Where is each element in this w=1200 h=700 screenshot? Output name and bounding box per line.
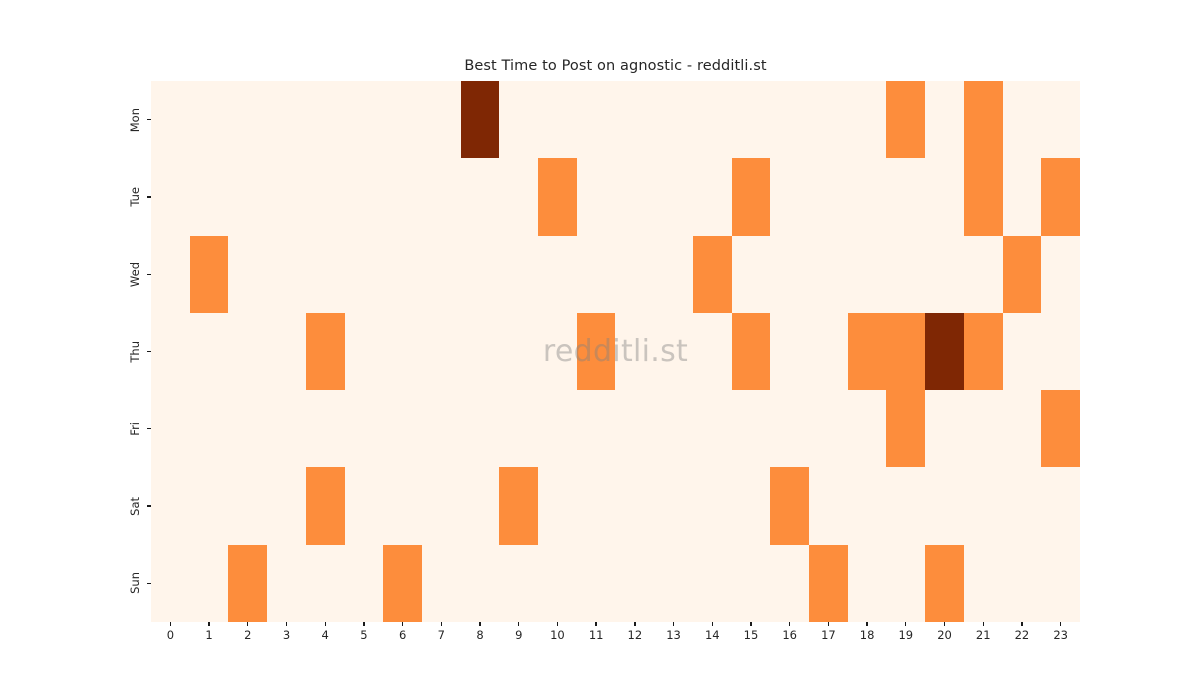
heatmap-cell — [886, 81, 925, 158]
x-tick-mark — [866, 622, 867, 626]
figure-canvas: Best Time to Post on agnostic - redditli… — [0, 0, 1200, 700]
x-tick-12: 12 — [616, 622, 655, 642]
heatmap-cell — [654, 390, 693, 467]
heatmap-cell — [345, 545, 384, 622]
y-tick-label: Mon — [130, 108, 142, 132]
x-tick-16: 16 — [770, 622, 809, 642]
x-tick-mark — [634, 622, 635, 626]
heatmap-cell — [422, 467, 461, 544]
heatmap-cell — [151, 158, 190, 235]
heatmap-cell — [228, 390, 267, 467]
heatmap-cell — [925, 390, 964, 467]
heatmap-cell — [1003, 158, 1042, 235]
heatmap-cell — [693, 313, 732, 390]
heatmap-cell — [615, 158, 654, 235]
x-tick-label: 2 — [244, 630, 251, 642]
x-tick-mark — [363, 622, 364, 626]
x-tick-mark — [479, 622, 480, 626]
heatmap-cell — [151, 545, 190, 622]
heatmap-cell — [190, 545, 229, 622]
heatmap-cell — [1041, 313, 1080, 390]
heatmap-cell — [1003, 236, 1042, 313]
heatmap-cell — [615, 313, 654, 390]
x-tick-label: 23 — [1053, 630, 1068, 642]
heatmap-cell — [422, 313, 461, 390]
x-tick-label: 8 — [476, 630, 483, 642]
x-tick-13: 13 — [654, 622, 693, 642]
heatmap-cell — [190, 313, 229, 390]
heatmap-cell — [809, 313, 848, 390]
heatmap-cell — [383, 390, 422, 467]
heatmap-cell — [654, 313, 693, 390]
heatmap-cell — [1003, 313, 1042, 390]
heatmap-cell — [228, 467, 267, 544]
x-tick-mark — [518, 622, 519, 626]
heatmap-cell — [151, 313, 190, 390]
heatmap-cell — [422, 236, 461, 313]
x-tick-mark — [286, 622, 287, 626]
heatmap-cell — [422, 158, 461, 235]
heatmap-cell — [345, 236, 384, 313]
heatmap-cell — [383, 313, 422, 390]
heatmap-cell — [693, 236, 732, 313]
heatmap-cell — [615, 545, 654, 622]
heatmap-cell — [732, 81, 771, 158]
x-tick-label: 1 — [205, 630, 212, 642]
x-tick-7: 7 — [422, 622, 461, 642]
heatmap-cell — [925, 313, 964, 390]
x-tick-label: 13 — [666, 630, 681, 642]
x-tick-mark — [325, 622, 326, 626]
x-tick-mark — [712, 622, 713, 626]
heatmap-cell — [306, 545, 345, 622]
heatmap-cell — [461, 81, 500, 158]
heatmap-cell — [499, 390, 538, 467]
heatmap-cell — [770, 158, 809, 235]
heatmap-cell — [461, 545, 500, 622]
x-tick-label: 0 — [167, 630, 174, 642]
heatmap-cell — [848, 545, 887, 622]
heatmap-cell — [499, 81, 538, 158]
heatmap-cell — [848, 81, 887, 158]
heatmap-cell — [770, 81, 809, 158]
heatmap-cell — [190, 158, 229, 235]
heatmap-cell — [848, 236, 887, 313]
x-tick-label: 19 — [898, 630, 913, 642]
x-tick-label: 9 — [515, 630, 522, 642]
y-tick-thu: Thu — [0, 313, 151, 390]
heatmap-cell — [1041, 236, 1080, 313]
y-tick-label: Tue — [130, 187, 142, 207]
heatmap-cell — [461, 158, 500, 235]
x-tick-15: 15 — [732, 622, 771, 642]
x-tick-0: 0 — [151, 622, 190, 642]
heatmap-cell — [770, 390, 809, 467]
heatmap-cell — [306, 313, 345, 390]
x-tick-4: 4 — [306, 622, 345, 642]
heatmap-cell — [577, 158, 616, 235]
heatmap-cell — [538, 158, 577, 235]
heatmap-cell — [306, 81, 345, 158]
heatmap-cell — [383, 467, 422, 544]
y-tick-sun: Sun — [0, 545, 151, 622]
heatmap-cell — [964, 236, 1003, 313]
heatmap-cell — [228, 313, 267, 390]
heatmap-cell — [809, 545, 848, 622]
heatmap-cell — [228, 545, 267, 622]
heatmap-cell — [693, 390, 732, 467]
x-tick-label: 5 — [360, 630, 367, 642]
x-tick-label: 10 — [550, 630, 565, 642]
heatmap-cell — [732, 467, 771, 544]
x-tick-label: 7 — [438, 630, 445, 642]
x-tick-20: 20 — [925, 622, 964, 642]
heatmap-cell — [190, 236, 229, 313]
heatmap-cell — [693, 545, 732, 622]
heatmap-cell — [499, 158, 538, 235]
heatmap-cell — [1003, 390, 1042, 467]
x-tick-mark — [402, 622, 403, 626]
y-tick-label: Sat — [130, 497, 142, 516]
y-tick-mon: Mon — [0, 81, 151, 158]
heatmap-cell — [345, 313, 384, 390]
x-tick-11: 11 — [577, 622, 616, 642]
heatmap-cell — [693, 158, 732, 235]
heatmap-cell — [1041, 390, 1080, 467]
x-tick-18: 18 — [848, 622, 887, 642]
heatmap-cell — [151, 467, 190, 544]
x-tick-label: 20 — [937, 630, 952, 642]
heatmap-cell — [538, 545, 577, 622]
heatmap-cell — [886, 545, 925, 622]
heatmap-cell — [925, 236, 964, 313]
heatmap-cell — [345, 158, 384, 235]
heatmap-cell — [306, 236, 345, 313]
heatmap-cell — [577, 236, 616, 313]
heatmap-cell — [267, 236, 306, 313]
x-tick-23: 23 — [1041, 622, 1080, 642]
heatmap-cell — [577, 81, 616, 158]
heatmap-cell — [383, 81, 422, 158]
heatmap-cell — [654, 236, 693, 313]
heatmap-cell — [306, 158, 345, 235]
heatmap-cell — [267, 467, 306, 544]
heatmap-cell — [732, 158, 771, 235]
heatmap-cell — [732, 545, 771, 622]
x-tick-mark — [170, 622, 171, 626]
heatmap-cell — [848, 390, 887, 467]
x-tick-label: 4 — [322, 630, 329, 642]
heatmap-cell — [461, 236, 500, 313]
heatmap-grid — [151, 81, 1080, 622]
heatmap-cell — [886, 390, 925, 467]
heatmap-cell — [732, 236, 771, 313]
heatmap-cell — [654, 467, 693, 544]
heatmap-cell — [461, 313, 500, 390]
heatmap-cell — [190, 467, 229, 544]
y-tick-wed: Wed — [0, 236, 151, 313]
heatmap-cell — [809, 390, 848, 467]
heatmap-cell — [538, 81, 577, 158]
x-tick-label: 14 — [705, 630, 720, 642]
heatmap-cell — [422, 545, 461, 622]
x-tick-label: 17 — [821, 630, 836, 642]
x-tick-mark — [441, 622, 442, 626]
x-tick-label: 21 — [976, 630, 991, 642]
x-tick-mark — [673, 622, 674, 626]
heatmap-cell — [848, 313, 887, 390]
heatmap-cell — [422, 390, 461, 467]
heatmap-cell — [383, 236, 422, 313]
heatmap-cell — [345, 467, 384, 544]
x-tick-8: 8 — [461, 622, 500, 642]
heatmap-cell — [964, 467, 1003, 544]
x-tick-mark — [750, 622, 751, 626]
heatmap-cell — [1041, 467, 1080, 544]
x-tick-5: 5 — [345, 622, 384, 642]
x-tick-22: 22 — [1003, 622, 1042, 642]
x-tick-mark — [557, 622, 558, 626]
heatmap-cell — [848, 158, 887, 235]
heatmap-cell — [1041, 545, 1080, 622]
heatmap-cell — [693, 81, 732, 158]
heatmap-cell — [732, 390, 771, 467]
heatmap-cell — [345, 81, 384, 158]
x-tick-2: 2 — [228, 622, 267, 642]
heatmap-cell — [499, 545, 538, 622]
heatmap-cell — [151, 390, 190, 467]
heatmap-cell — [228, 81, 267, 158]
heatmap-cell — [345, 390, 384, 467]
heatmap-cell — [538, 313, 577, 390]
heatmap-cell — [654, 81, 693, 158]
heatmap-cell — [809, 158, 848, 235]
x-tick-3: 3 — [267, 622, 306, 642]
heatmap-cell — [228, 158, 267, 235]
x-tick-mark — [983, 622, 984, 626]
heatmap-cell — [267, 81, 306, 158]
heatmap-cell — [577, 545, 616, 622]
heatmap-cell — [615, 467, 654, 544]
x-tick-mark — [247, 622, 248, 626]
heatmap-cell — [499, 313, 538, 390]
heatmap-cell — [732, 313, 771, 390]
x-tick-mark — [828, 622, 829, 626]
x-tick-mark — [595, 622, 596, 626]
heatmap-cell — [964, 81, 1003, 158]
heatmap-cell — [538, 390, 577, 467]
heatmap-cell — [538, 467, 577, 544]
heatmap-cell — [615, 81, 654, 158]
heatmap-cell — [925, 158, 964, 235]
heatmap-cell — [461, 467, 500, 544]
heatmap-cell — [770, 545, 809, 622]
heatmap-cell — [267, 545, 306, 622]
y-tick-sat: Sat — [0, 467, 151, 544]
x-tick-label: 16 — [782, 630, 797, 642]
page-title: Best Time to Post on agnostic - redditli… — [151, 58, 1080, 74]
heatmap-cell — [499, 236, 538, 313]
heatmap-cell — [925, 81, 964, 158]
x-tick-label: 11 — [589, 630, 604, 642]
heatmap-cell — [925, 545, 964, 622]
heatmap-cell — [654, 158, 693, 235]
heatmap-cell — [964, 158, 1003, 235]
heatmap-cell — [228, 236, 267, 313]
heatmap-cell — [267, 390, 306, 467]
heatmap-cell — [1003, 81, 1042, 158]
y-axis: MonTueWedThuFriSatSun — [0, 81, 151, 622]
x-tick-19: 19 — [886, 622, 925, 642]
heatmap-cell — [886, 467, 925, 544]
heatmap-cell — [577, 390, 616, 467]
x-tick-14: 14 — [693, 622, 732, 642]
x-tick-label: 3 — [283, 630, 290, 642]
x-tick-label: 6 — [399, 630, 406, 642]
heatmap-cell — [964, 313, 1003, 390]
x-tick-1: 1 — [190, 622, 229, 642]
heatmap-cell — [461, 390, 500, 467]
x-tick-10: 10 — [538, 622, 577, 642]
heatmap-cell — [267, 313, 306, 390]
y-tick-label: Thu — [130, 341, 142, 363]
heatmap-cell — [577, 313, 616, 390]
x-tick-label: 22 — [1015, 630, 1030, 642]
x-tick-mark — [1021, 622, 1022, 626]
heatmap-cell — [151, 81, 190, 158]
heatmap-cell — [422, 81, 461, 158]
heatmap-cell — [1041, 158, 1080, 235]
x-tick-mark — [789, 622, 790, 626]
heatmap-plot-area: redditli.st — [151, 81, 1080, 622]
y-tick-label: Sun — [130, 572, 142, 594]
heatmap-cell — [383, 158, 422, 235]
heatmap-cell — [886, 158, 925, 235]
heatmap-cell — [770, 236, 809, 313]
heatmap-cell — [190, 390, 229, 467]
x-tick-9: 9 — [499, 622, 538, 642]
heatmap-cell — [809, 467, 848, 544]
heatmap-cell — [306, 467, 345, 544]
x-tick-17: 17 — [809, 622, 848, 642]
x-tick-6: 6 — [383, 622, 422, 642]
heatmap-cell — [577, 467, 616, 544]
y-tick-label: Fri — [130, 422, 142, 436]
heatmap-cell — [886, 236, 925, 313]
heatmap-cell — [770, 467, 809, 544]
x-tick-label: 15 — [744, 630, 759, 642]
heatmap-cell — [1003, 467, 1042, 544]
heatmap-cell — [848, 467, 887, 544]
heatmap-cell — [615, 390, 654, 467]
heatmap-cell — [809, 236, 848, 313]
heatmap-cell — [964, 545, 1003, 622]
x-tick-mark — [1060, 622, 1061, 626]
heatmap-cell — [267, 158, 306, 235]
x-tick-mark — [944, 622, 945, 626]
heatmap-cell — [383, 545, 422, 622]
x-tick-mark — [905, 622, 906, 626]
heatmap-cell — [693, 467, 732, 544]
heatmap-cell — [1003, 545, 1042, 622]
x-tick-mark — [208, 622, 209, 626]
heatmap-cell — [499, 467, 538, 544]
heatmap-cell — [886, 313, 925, 390]
y-tick-label: Wed — [130, 262, 142, 287]
heatmap-cell — [925, 467, 964, 544]
heatmap-cell — [190, 81, 229, 158]
y-tick-tue: Tue — [0, 158, 151, 235]
heatmap-cell — [306, 390, 345, 467]
x-tick-21: 21 — [964, 622, 1003, 642]
heatmap-cell — [538, 236, 577, 313]
x-tick-label: 18 — [860, 630, 875, 642]
x-axis: 01234567891011121314151617181920212223 — [151, 622, 1080, 662]
heatmap-cell — [615, 236, 654, 313]
heatmap-cell — [151, 236, 190, 313]
heatmap-cell — [964, 390, 1003, 467]
heatmap-cell — [809, 81, 848, 158]
x-tick-label: 12 — [628, 630, 643, 642]
y-tick-fri: Fri — [0, 390, 151, 467]
heatmap-cell — [1041, 81, 1080, 158]
heatmap-cell — [654, 545, 693, 622]
heatmap-cell — [770, 313, 809, 390]
